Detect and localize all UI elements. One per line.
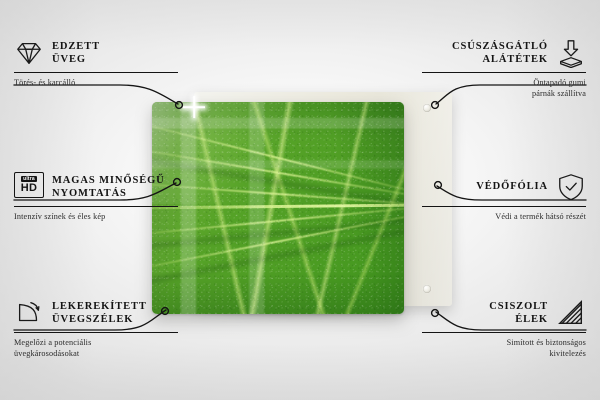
feature-title: MAGAS MINŐSÉGŰ NYOMTATÁS (52, 174, 165, 201)
feature-rounded-edges: LEKEREKÍTETT ÜVEGSZÉLEK Megelőzi a poten… (14, 298, 178, 359)
feature-description: Öntapadó gumi párnák szállítva (422, 77, 586, 100)
infographic-canvas: EDZETT ÜVEG Törés- és karcálló ultra HD … (0, 0, 600, 400)
feature-rule (14, 206, 178, 207)
rubber-pad-top-right (423, 104, 431, 112)
hatched-triangle-icon (556, 298, 586, 328)
feature-description: Megelőzi a potenciális üvegkárosodásokat (14, 337, 178, 360)
feature-title: CSISZOLT ÉLEK (489, 300, 548, 327)
glass-panel (152, 102, 404, 314)
feature-high-quality-print: ultra HD MAGAS MINŐSÉGŰ NYOMTATÁS Intenz… (14, 172, 178, 222)
leaf-grain-texture (152, 102, 404, 314)
ultra-hd-badge-main: HD (21, 183, 38, 194)
product-image (152, 92, 452, 314)
feature-title: LEKEREKÍTETT ÜVEGSZÉLEK (52, 300, 147, 327)
feature-rule (422, 332, 586, 333)
feature-title: VÉDŐFÓLIA (476, 180, 548, 193)
feature-description: Törés- és karcálló (14, 77, 178, 88)
feature-title: EDZETT ÜVEG (52, 40, 100, 67)
feature-rule (14, 332, 178, 333)
ultra-hd-icon: ultra HD (14, 172, 44, 202)
rubber-pad-bottom-right (423, 285, 431, 293)
feature-polished-edges: CSISZOLT ÉLEK Simított és biztonságos ki… (422, 298, 586, 359)
shield-check-icon (556, 172, 586, 202)
feature-anti-slip-pads: CSÚSZÁSGÁTLÓ ALÁTÉTEK Öntapadó gumi párn… (422, 38, 586, 99)
feature-rule (422, 206, 586, 207)
feature-rule (14, 72, 178, 73)
diamond-icon (14, 38, 44, 68)
feature-description: Intenzív színek és éles kép (14, 211, 178, 222)
feature-protective-foil: VÉDŐFÓLIA Védi a termék hátsó részét (422, 172, 586, 222)
feature-rule (422, 72, 586, 73)
feature-tempered-glass: EDZETT ÜVEG Törés- és karcálló (14, 38, 178, 88)
feature-description: Simított és biztonságos kivitelezés (422, 337, 586, 360)
rounded-corner-icon (14, 298, 44, 328)
feature-description: Védi a termék hátsó részét (422, 211, 586, 222)
arrow-onto-pad-icon (556, 38, 586, 68)
feature-title: CSÚSZÁSGÁTLÓ ALÁTÉTEK (452, 40, 548, 67)
